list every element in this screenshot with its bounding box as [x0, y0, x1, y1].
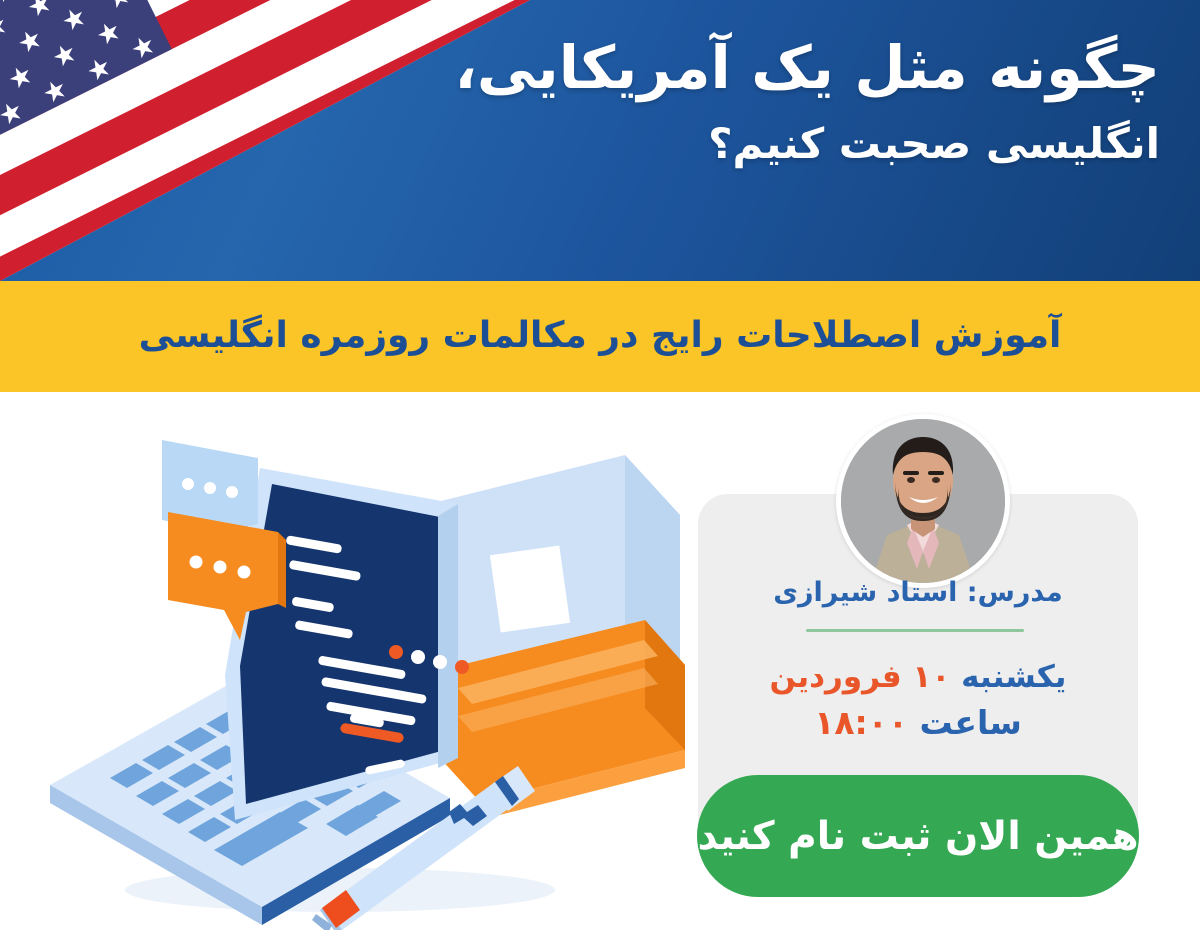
divider: [806, 629, 1024, 632]
event-time: ساعت ۱۸:۰۰: [698, 703, 1138, 742]
flag-star-icon: ★: [102, 0, 136, 15]
flag-star-icon: ★: [48, 38, 82, 73]
flag-star-icon: ★: [13, 24, 47, 59]
headline-line-1: چگونه مثل یک آمریکایی،: [330, 32, 1160, 104]
instructor-name: مدرس: استاد شیرازی: [698, 577, 1138, 608]
flag-star-icon: ★: [4, 60, 38, 95]
page-title: چگونه مثل یک آمریکایی، انگلیسی صحبت کنیم…: [330, 32, 1160, 170]
flag-star-icon: ★: [0, 10, 12, 45]
event-date: یکشنبه ۱۰ فروردین: [698, 659, 1138, 695]
event-date-rest: ۱۰ فروردین: [770, 659, 951, 695]
flag-star-icon: ★: [23, 0, 57, 23]
subtitle-text: آموزش اصطلاحات رایج در مکالمات روزمره ان…: [93, 313, 1108, 360]
event-time-value: ۱۸:۰۰: [814, 703, 908, 742]
flag-star-icon: ★: [92, 16, 126, 51]
flag-star-icon: ★: [38, 74, 72, 109]
subtitle-band: آموزش اصطلاحات رایج در مکالمات روزمره ان…: [0, 281, 1200, 392]
flag-star-icon: ★: [67, 0, 101, 1]
event-time-label: ساعت: [919, 703, 1021, 742]
avatar: [836, 414, 1010, 588]
flag-star-icon: ★: [82, 52, 116, 87]
register-now-button[interactable]: همین الان ثبت نام کنید: [697, 775, 1139, 897]
flag-star-icon: ★: [127, 30, 161, 65]
flag-star-icon: ★: [0, 96, 28, 131]
poster-root: ★★★★★★★★★★★★★★★★★★★★★★★★★★★★★★★★★★★★★★★★…: [0, 0, 1200, 948]
flag-star-icon: ★: [57, 2, 91, 37]
headline-line-2: انگلیسی صحبت کنیم؟: [330, 118, 1160, 171]
flag-star-icon: ★: [0, 46, 3, 81]
laptop-books-pen-illustration: [40, 420, 700, 930]
event-date-day: یکشنبه: [961, 659, 1066, 695]
flag-star-icon: ★: [0, 0, 22, 8]
